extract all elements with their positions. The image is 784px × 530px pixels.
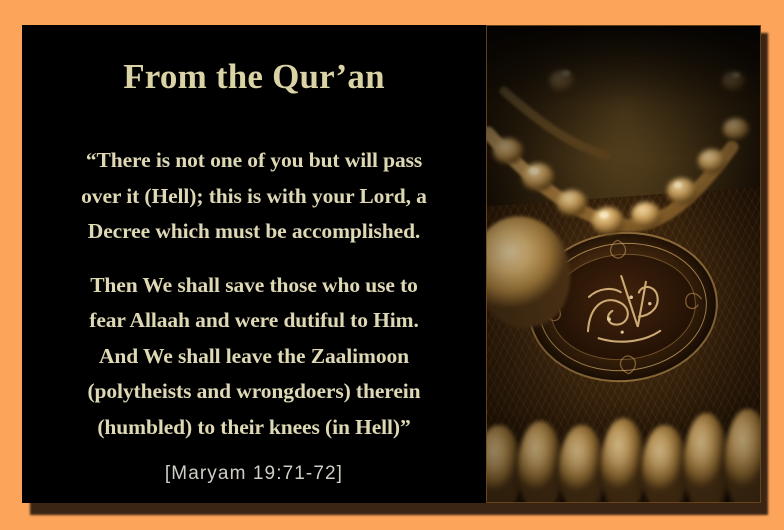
verse-block: “There is not one of you but will pass o… <box>22 143 486 445</box>
verse-line: (humbled) to their knees (in Hell)” <box>36 410 472 446</box>
bead <box>518 421 564 503</box>
foreground-bead-row-icon <box>486 393 761 503</box>
quran-photo <box>486 25 761 503</box>
verse-paragraph-2: Then We shall save those who use to fear… <box>22 268 486 446</box>
verse-line: fear Allaah and were dutiful to Him. <box>36 303 472 339</box>
bead <box>725 409 761 503</box>
quran-quote-poster: From the Qur’an “There is not one of you… <box>0 0 784 530</box>
text-column: From the Qur’an “There is not one of you… <box>22 25 486 503</box>
verse-paragraph-1: “There is not one of you but will pass o… <box>22 143 486 250</box>
verse-citation: [Maryam 19:71-72] <box>22 463 486 485</box>
verse-line: (polytheists and wrongdoers) therein <box>36 374 472 410</box>
bead <box>486 425 522 503</box>
bead <box>684 413 730 503</box>
bead <box>642 425 688 503</box>
page-title: From the Qur’an <box>22 57 486 97</box>
verse-line: And We shall leave the Zaalimoon <box>36 339 472 375</box>
bead <box>559 425 605 503</box>
verse-line: over it (Hell); this is with your Lord, … <box>36 179 472 215</box>
verse-line: Then We shall save those who use to <box>36 268 472 304</box>
verse-line: Decree which must be accomplished. <box>36 214 472 250</box>
verse-line: “There is not one of you but will pass <box>36 143 472 179</box>
bead <box>601 418 647 503</box>
poster-card: From the Qur’an “There is not one of you… <box>22 25 761 503</box>
